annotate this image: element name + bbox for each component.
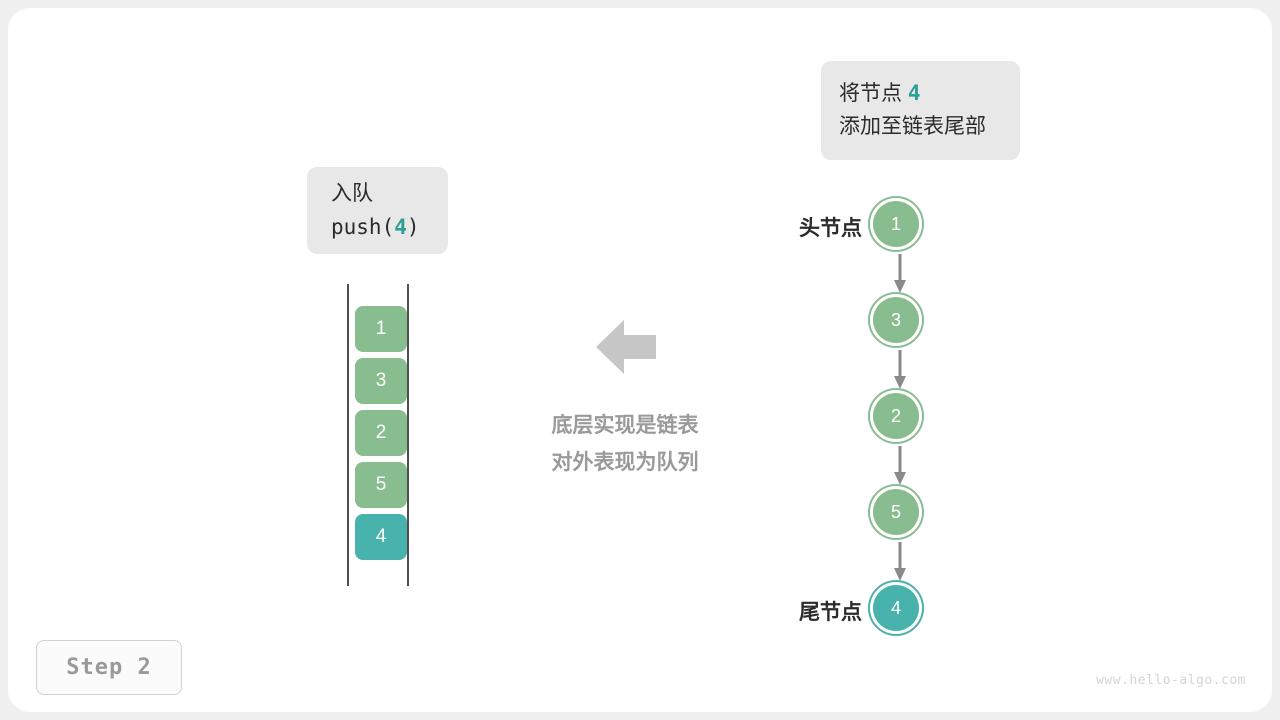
list-node-value: 1 — [873, 201, 919, 247]
list-node: 2 — [868, 388, 924, 444]
list-node-value: 2 — [873, 393, 919, 439]
stack-cell: 4 — [355, 514, 407, 560]
list-connector-arrow-icon — [893, 446, 907, 486]
list-node-value: 5 — [873, 489, 919, 535]
tail-node-label: 尾节点 — [780, 596, 862, 626]
list-node: 1 — [868, 196, 924, 252]
push-callout-code: push(4) — [331, 211, 448, 244]
list-connector-arrow-icon — [893, 542, 907, 582]
push-callout-line1: 入队 — [331, 178, 448, 211]
tail-insert-callout-bubble: 将节点 4 添加至链表尾部 — [821, 61, 1020, 160]
tail-callout-line1: 将节点 4 — [839, 77, 1020, 111]
step-badge: Step 2 — [36, 640, 182, 695]
list-node-value: 4 — [873, 585, 919, 631]
stack-column: 13254 — [340, 284, 416, 586]
stack-cell: 3 — [355, 358, 407, 404]
list-node: 5 — [868, 484, 924, 540]
watermark: www.hello-algo.com — [1096, 673, 1246, 688]
list-node-value: 3 — [873, 297, 919, 343]
stack-cell-list: 13254 — [355, 306, 407, 560]
middle-caption: 底层实现是链表 对外表现为队列 — [500, 408, 750, 482]
stack-rail-left — [347, 284, 349, 586]
list-connector-arrow-icon — [893, 350, 907, 390]
list-node: 4 — [868, 580, 924, 636]
linked-list: 13254头节点尾节点 — [780, 192, 1000, 642]
list-connector-arrow-icon — [893, 254, 907, 294]
push-callout-bubble: 入队 push(4) — [307, 167, 448, 254]
stack-rail-right — [407, 284, 409, 586]
middle-caption-line1: 底层实现是链表 — [500, 408, 750, 445]
middle-caption-line2: 对外表现为队列 — [500, 445, 750, 482]
stack-cell: 5 — [355, 462, 407, 508]
stack-cell: 2 — [355, 410, 407, 456]
push-code-suffix: ) — [407, 215, 420, 239]
diagram-canvas: 入队 push(4) 将节点 4 添加至链表尾部 13254 底层实现是链表 对… — [0, 0, 1280, 720]
list-node: 3 — [868, 292, 924, 348]
head-node-label: 头节点 — [780, 212, 862, 242]
left-arrow-icon — [596, 318, 656, 376]
tail-callout-value: 4 — [908, 81, 921, 105]
push-code-prefix: push( — [331, 215, 394, 239]
stack-cell: 1 — [355, 306, 407, 352]
tail-callout-line2: 添加至链表尾部 — [839, 111, 1020, 144]
push-code-value: 4 — [394, 215, 407, 239]
tail-callout-prefix: 将节点 — [839, 82, 908, 105]
